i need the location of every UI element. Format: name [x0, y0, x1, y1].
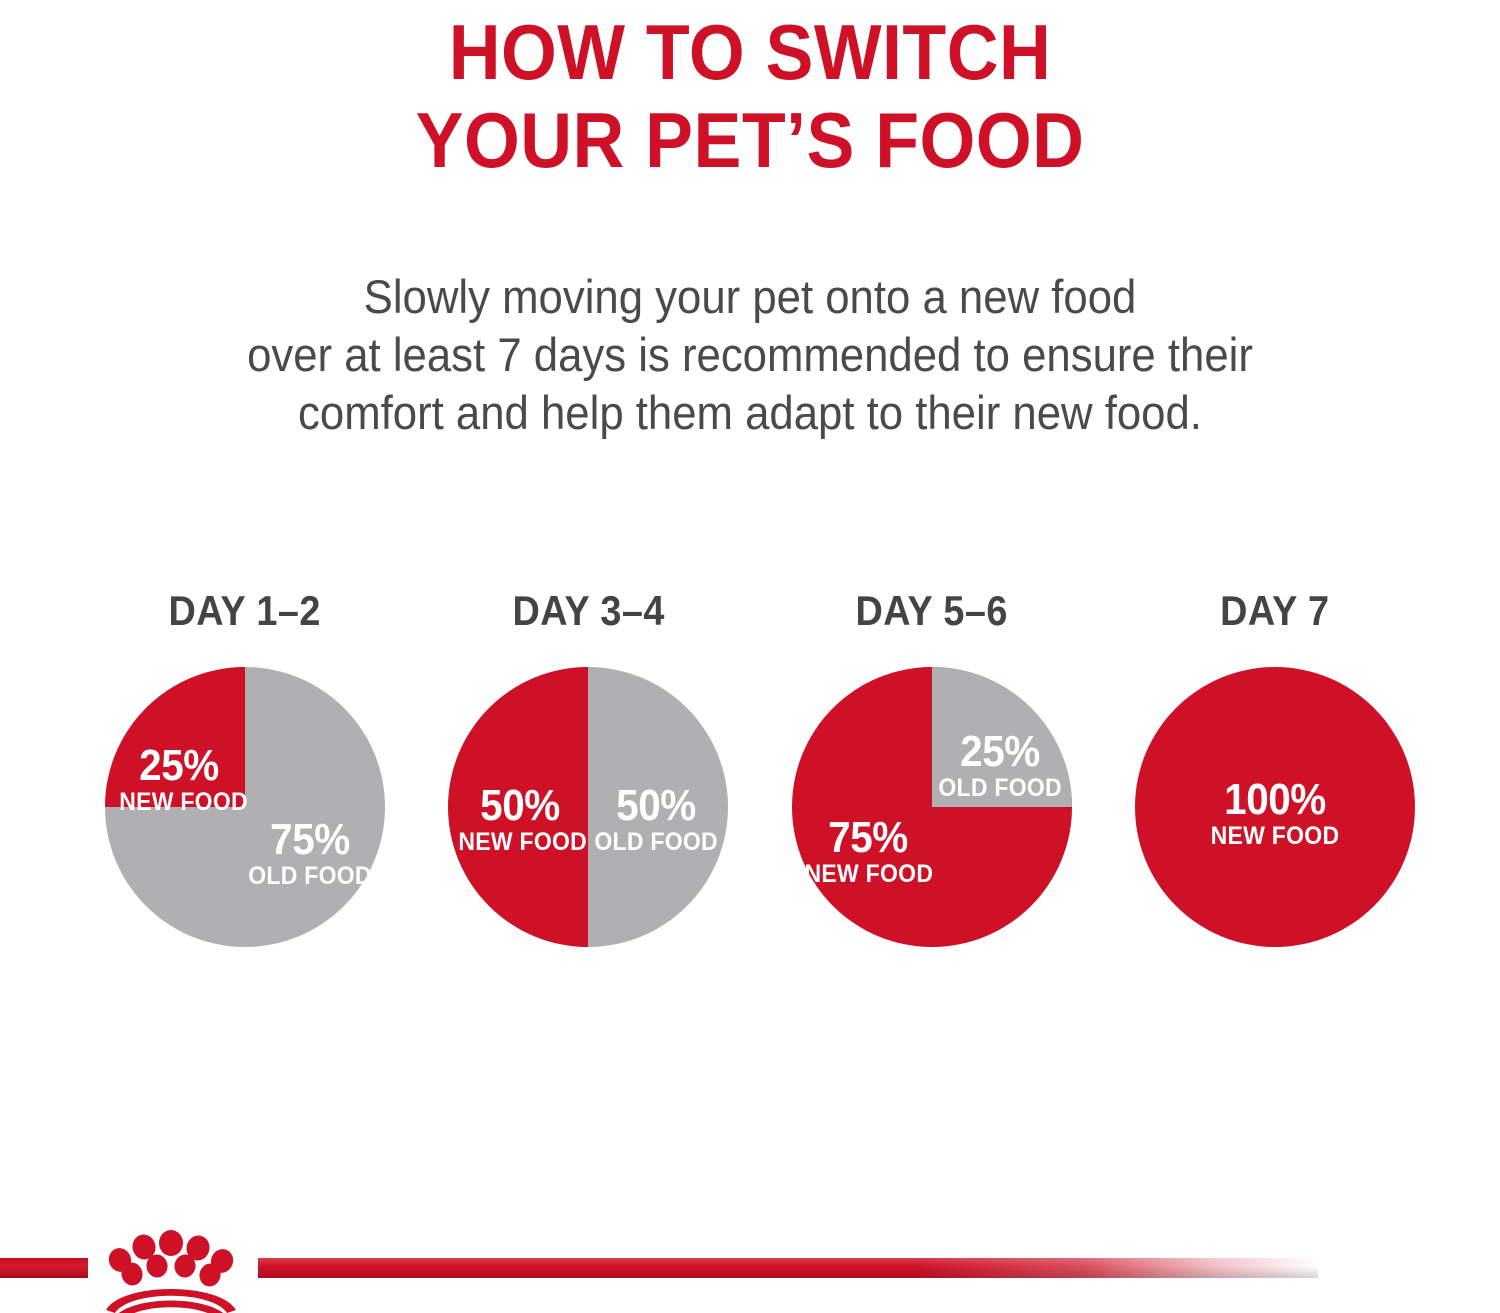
- intro-paragraph: Slowly moving your pet onto a new food o…: [99, 268, 1401, 442]
- crown-svg: [96, 1230, 246, 1313]
- pie-chart-day-7: 100% NEW FOOD: [1134, 666, 1416, 948]
- intro-line-1: Slowly moving your pet onto a new food: [99, 268, 1401, 326]
- pie-slice-old-food: [932, 667, 1072, 807]
- chart-day-label: DAY 5–6: [855, 588, 1007, 634]
- transition-schedule-charts: DAY 1–2 25% NEW FOOD 75% OLD FOOD DAY 3–…: [80, 588, 1440, 988]
- footer-rule-right: [258, 1258, 1318, 1278]
- chart-day-3-4: DAY 3–4 50% NEW FOOD 50% OLD FOOD: [423, 588, 753, 948]
- page-title: HOW TO SWITCH YOUR PET’S FOOD: [60, 8, 1440, 184]
- chart-day-label: DAY 7: [1220, 588, 1329, 634]
- chart-day-5-6: DAY 5–6 25% OLD FOOD 75% NEW FOOD: [767, 588, 1097, 948]
- page-title-line-1: HOW TO SWITCH: [60, 8, 1440, 96]
- pie-slice-new-food: [448, 667, 588, 947]
- footer-brand-bar: [0, 1230, 1500, 1313]
- pie-chart-day-5-6: 25% OLD FOOD 75% NEW FOOD: [791, 666, 1073, 948]
- chart-day-1-2: DAY 1–2 25% NEW FOOD 75% OLD FOOD: [80, 588, 410, 948]
- pie-svg: [447, 666, 729, 948]
- footer-rule-left: [0, 1258, 88, 1278]
- chart-day-label: DAY 1–2: [169, 588, 321, 634]
- pie-svg: [791, 666, 1073, 948]
- royal-canin-crown-icon: [96, 1230, 246, 1313]
- pie-chart-day-3-4: 50% NEW FOOD 50% OLD FOOD: [447, 666, 729, 948]
- intro-line-2: over at least 7 days is recommended to e…: [99, 326, 1401, 384]
- intro-line-3: comfort and help them adapt to their new…: [99, 384, 1401, 442]
- pie-slice-new-food: [1135, 667, 1415, 947]
- pie-svg: [1134, 666, 1416, 948]
- pie-svg: [104, 666, 386, 948]
- chart-day-label: DAY 3–4: [512, 588, 664, 634]
- page-title-line-2: YOUR PET’S FOOD: [60, 96, 1440, 184]
- pie-chart-day-1-2: 25% NEW FOOD 75% OLD FOOD: [104, 666, 386, 948]
- chart-day-7: DAY 7 100% NEW FOOD: [1110, 588, 1440, 948]
- pie-slice-new-food: [105, 667, 245, 807]
